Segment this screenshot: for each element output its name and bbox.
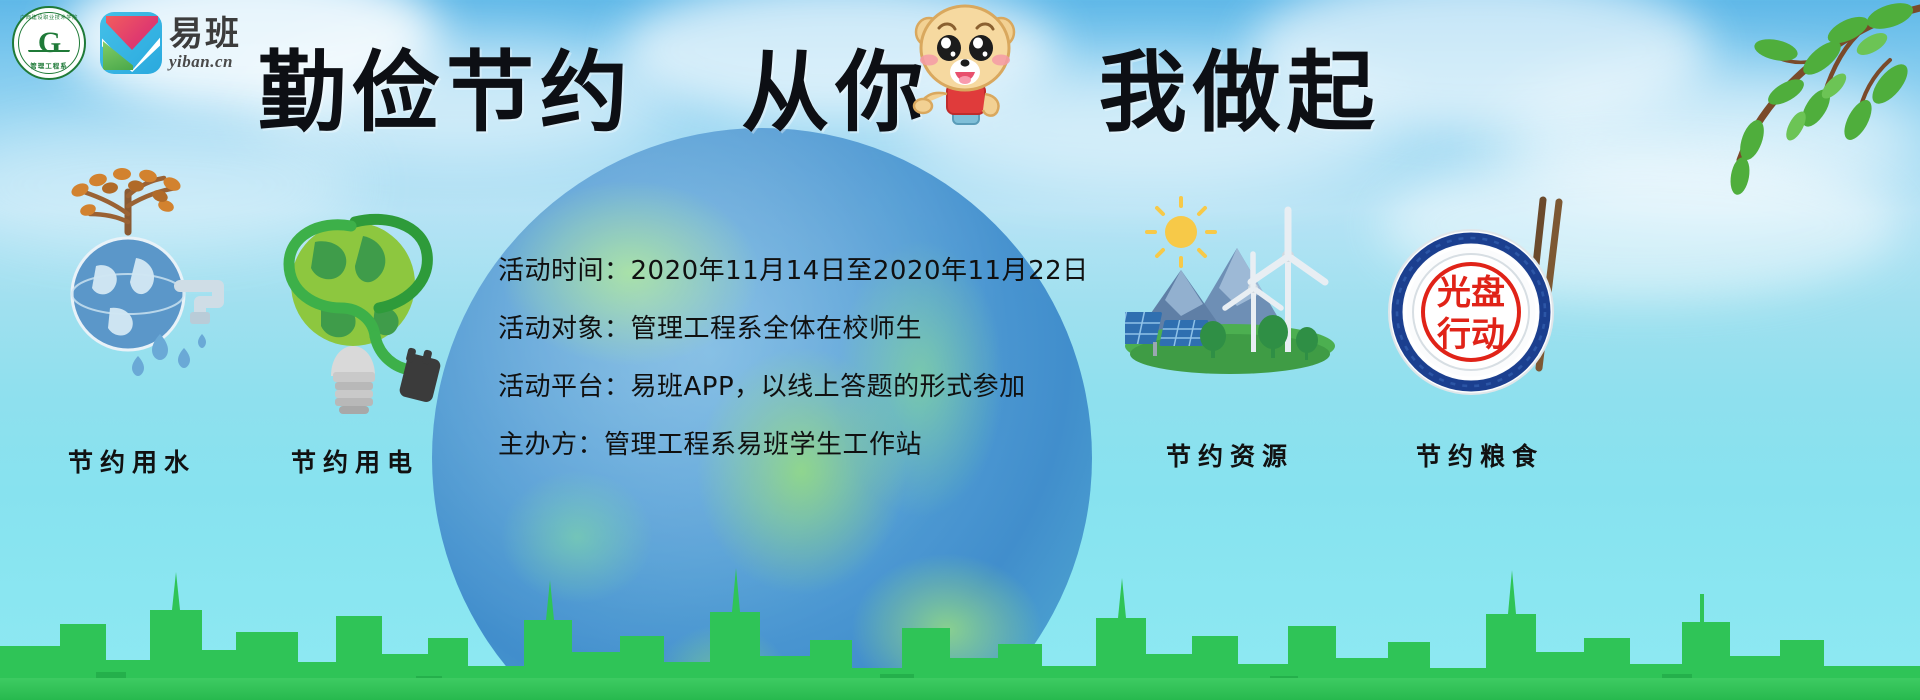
seal-book-icon bbox=[28, 50, 70, 57]
title-segment-1: 勤俭节约 bbox=[258, 41, 634, 144]
yiban-logo: 易班 yiban.cn bbox=[100, 12, 241, 74]
yiban-name-cn: 易班 bbox=[169, 17, 241, 51]
wind-turbine-solar-icon bbox=[1125, 196, 1335, 426]
seal-bottom-text: 管理工程系 bbox=[14, 60, 84, 70]
seal-arc-text: 广西建设职业技术学院 bbox=[14, 14, 84, 21]
info-line-time: 活动时间：2020年11月14日至2020年11月22日 bbox=[498, 258, 1098, 284]
info-line-host: 主办方：管理工程系易班学生工作站 bbox=[498, 432, 1098, 458]
page-title: 勤俭节约 从你 我做起 bbox=[258, 22, 1381, 149]
title-segment-2: 从你 bbox=[741, 41, 929, 144]
info-line-audience: 活动对象：管理工程系全体在校师生 bbox=[498, 316, 1098, 342]
grass-strip bbox=[0, 678, 1920, 700]
icon-cell-save-water: 节约用水 bbox=[22, 162, 242, 479]
event-info-block: 活动时间：2020年11月14日至2020年11月22日 活动对象：管理工程系全… bbox=[498, 258, 1098, 490]
water-globe-tap-icon bbox=[32, 162, 232, 432]
icon-caption-save-water: 节约用水 bbox=[22, 443, 242, 479]
icon-caption-save-resources: 节约资源 bbox=[1120, 437, 1340, 473]
yiban-mark-icon bbox=[100, 12, 162, 74]
yiban-bear-mascot bbox=[905, 2, 1025, 142]
university-seal-logo: 广西建设职业技术学院 G 管理工程系 bbox=[12, 6, 86, 80]
icon-cell-save-power: 节约用电 bbox=[245, 180, 465, 479]
icon-cell-save-food: 光盘 行动 节约粮食 bbox=[1370, 196, 1590, 473]
yiban-name-en: yiban.cn bbox=[169, 53, 241, 70]
plate-seal-text-top: 光盘 bbox=[1437, 273, 1505, 313]
icon-cell-save-resources: 节约资源 bbox=[1120, 196, 1340, 473]
icon-caption-save-food: 节约粮食 bbox=[1370, 437, 1590, 473]
green-lightbulb-icon bbox=[255, 180, 455, 432]
plate-seal-text-bottom: 行动 bbox=[1437, 315, 1505, 355]
info-line-platform: 活动平台：易班APP，以线上答题的形式参加 bbox=[498, 374, 1098, 400]
icon-caption-save-power: 节约用电 bbox=[245, 443, 465, 479]
tree-branch-decoration bbox=[1590, 0, 1920, 210]
clear-plate-seal-icon: 光盘 行动 bbox=[1375, 196, 1585, 426]
title-segment-3: 我做起 bbox=[1099, 41, 1381, 144]
logo-group: 广西建设职业技术学院 G 管理工程系 易班 yiban.cn bbox=[12, 6, 241, 80]
